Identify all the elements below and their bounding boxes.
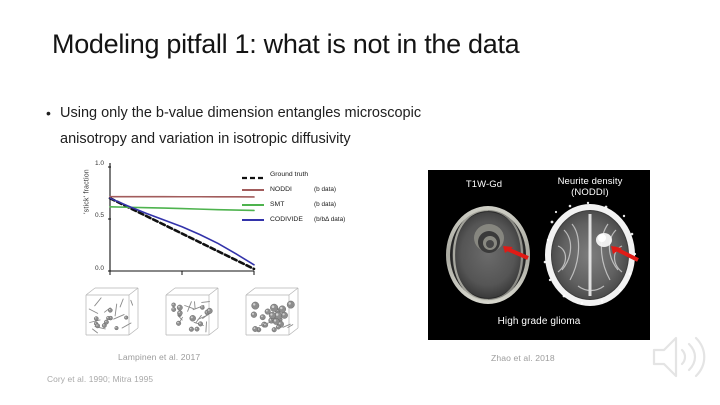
cube-edge	[209, 328, 218, 335]
stick-element	[95, 298, 101, 306]
legend-note-codivide: (b/bΔ data)	[314, 216, 345, 223]
bullet-line-2: anisotropy and variation in isotropic di…	[46, 126, 566, 152]
sphere-highlight	[177, 322, 179, 324]
sphere-highlight	[178, 306, 180, 308]
bullet-marker-icon: •	[46, 100, 60, 126]
sphere-element	[207, 308, 213, 314]
mri-label-neurite-density: Neurite density (NODDI)	[538, 176, 642, 198]
stick-element	[131, 300, 133, 305]
sphere-highlight	[103, 324, 104, 325]
sphere-highlight	[253, 303, 255, 305]
sphere-element	[252, 302, 259, 309]
legend-item-smt: SMT (b data)	[242, 198, 372, 211]
stick-element	[206, 322, 207, 332]
sphere-element	[94, 317, 98, 321]
cube-edge	[86, 288, 95, 295]
sphere-highlight	[261, 316, 263, 318]
cube-edge	[129, 288, 138, 295]
stick-fraction-chart: 'stick' fraction 1.0 0.5 0.0	[68, 160, 368, 282]
sphere-element	[189, 327, 194, 332]
sphere-highlight	[276, 313, 279, 316]
sphere-highlight	[280, 307, 282, 309]
sphere-highlight	[270, 313, 272, 315]
sphere-highlight	[199, 322, 201, 324]
legend-label-codivide: CODIVIDE	[270, 216, 314, 223]
sphere-element	[260, 315, 265, 320]
sphere-highlight	[95, 323, 96, 324]
sphere-highlight	[105, 321, 106, 322]
sphere-element	[270, 304, 278, 312]
sphere-element	[287, 301, 294, 308]
sphere-element	[95, 324, 99, 328]
cube-low-density	[76, 282, 148, 344]
cube-edge	[166, 288, 175, 295]
legend-swatch-noddi	[242, 185, 264, 195]
sphere-highlight	[273, 328, 275, 330]
sphere-highlight	[272, 305, 275, 308]
sphere-element	[276, 325, 280, 329]
cube-edge	[129, 328, 138, 335]
stick-element	[115, 304, 117, 316]
sphere-highlight	[172, 308, 173, 309]
sphere-element	[124, 316, 128, 320]
microstructure-cube-diagrams	[76, 282, 316, 344]
sphere-highlight	[289, 302, 291, 304]
mri-label-neurite-density-line2: (NODDI)	[538, 187, 642, 198]
legend-item-ground-truth: Ground truth	[242, 168, 372, 181]
sphere-highlight	[172, 304, 173, 305]
legend-swatch-smt	[242, 200, 264, 210]
chart-legend: Ground truth NODDI (b data) SMT (b data)	[242, 168, 372, 228]
mri-image-t1w-gd	[442, 202, 534, 306]
sphere-element	[272, 327, 277, 332]
page-title: Modeling pitfall 1: what is not in the d…	[52, 27, 672, 61]
bullet-list: • Using only the b-value dimension entan…	[46, 100, 566, 152]
sphere-highlight	[196, 328, 197, 329]
chart-series-group	[110, 197, 254, 269]
sphere-element	[172, 307, 176, 311]
sphere-element	[253, 326, 258, 331]
sphere-highlight	[190, 328, 192, 330]
chart-y-ticks: 1.0 0.5 0.0	[76, 160, 104, 282]
legend-item-noddi: NODDI (b data)	[242, 183, 372, 196]
caption-lampinen: Lampinen et al. 2017	[118, 352, 200, 362]
sphere-highlight	[178, 312, 180, 314]
legend-label-ground-truth: Ground truth	[270, 171, 314, 178]
sphere-element	[108, 308, 112, 312]
slide-canvas: Modeling pitfall 1: what is not in the d…	[0, 0, 720, 405]
legend-note-smt: (b data)	[314, 201, 336, 208]
legend-swatch-codivide	[242, 215, 264, 225]
mri-label-high-grade-glioma: High grade glioma	[428, 316, 650, 327]
chart-plot-area	[108, 163, 256, 275]
sphere-highlight	[107, 317, 108, 318]
list-item: • Using only the b-value dimension entan…	[46, 100, 566, 126]
stick-element	[122, 323, 131, 328]
left-figure: 'stick' fraction 1.0 0.5 0.0	[68, 160, 368, 355]
mri-figure-panel: T1W-Gd Neurite density (NODDI)	[428, 170, 650, 340]
sphere-highlight	[96, 324, 97, 325]
sphere-highlight	[274, 319, 276, 321]
legend-item-codivide: CODIVIDE (b/bΔ data)	[242, 213, 372, 226]
sphere-element	[200, 306, 204, 310]
y-tick-1: 1.0	[82, 160, 104, 167]
legend-swatch-ground-truth	[242, 170, 264, 180]
cube-high-density	[236, 282, 308, 344]
legend-note-noddi: (b data)	[314, 186, 336, 193]
sphere-highlight	[277, 326, 278, 327]
sphere-highlight	[109, 309, 110, 310]
y-tick-2: 0.5	[82, 212, 104, 219]
stick-element	[202, 302, 210, 303]
sphere-element	[104, 320, 108, 324]
sphere-element	[269, 312, 276, 319]
sphere-highlight	[125, 317, 126, 318]
sphere-element	[177, 305, 182, 310]
sphere-element	[106, 316, 110, 320]
bullet-line-1: Using only the b-value dimension entangl…	[60, 100, 566, 126]
sphere-highlight	[95, 317, 96, 318]
mri-label-neurite-density-line1: Neurite density	[538, 176, 642, 187]
sphere-highlight	[264, 324, 266, 326]
sphere-highlight	[266, 310, 268, 312]
sphere-element	[263, 323, 268, 328]
footnote-reference: Cory et al. 1990; Mitra 1995	[47, 374, 153, 384]
sphere-element	[198, 322, 203, 327]
speaker-icon[interactable]	[648, 328, 708, 386]
sphere-element	[279, 306, 286, 313]
sphere-highlight	[283, 313, 285, 315]
cube-edge	[246, 288, 255, 295]
mri-label-t1w-gd: T1W-Gd	[440, 179, 528, 190]
caption-zhao: Zhao et al. 2018	[491, 353, 555, 363]
sphere-highlight	[201, 306, 202, 307]
sphere-element	[176, 321, 181, 326]
stick-element	[93, 329, 98, 333]
sphere-element	[190, 315, 196, 321]
sphere-element	[172, 303, 176, 307]
legend-label-smt: SMT	[270, 201, 314, 208]
chart-svg	[108, 163, 256, 278]
sphere-element	[115, 326, 119, 330]
sphere-element	[281, 312, 287, 318]
sphere-element	[273, 318, 279, 324]
sphere-element	[251, 312, 257, 318]
sphere-highlight	[191, 316, 193, 318]
cube-edge	[289, 328, 298, 335]
sphere-highlight	[254, 327, 256, 329]
legend-label-noddi: NODDI	[270, 186, 314, 193]
sphere-element	[177, 311, 182, 316]
cube-edge	[289, 288, 298, 295]
stick-element	[89, 309, 98, 313]
cube-mid-density	[156, 282, 228, 344]
mri-image-neurite-density	[540, 200, 640, 308]
y-tick-3: 0.0	[82, 265, 104, 272]
stick-element	[195, 302, 196, 309]
cube-edge	[209, 288, 218, 295]
sphere-highlight	[252, 313, 254, 315]
sphere-element	[195, 327, 199, 331]
stick-element	[120, 299, 123, 307]
sphere-highlight	[115, 327, 116, 328]
sphere-highlight	[208, 309, 210, 311]
